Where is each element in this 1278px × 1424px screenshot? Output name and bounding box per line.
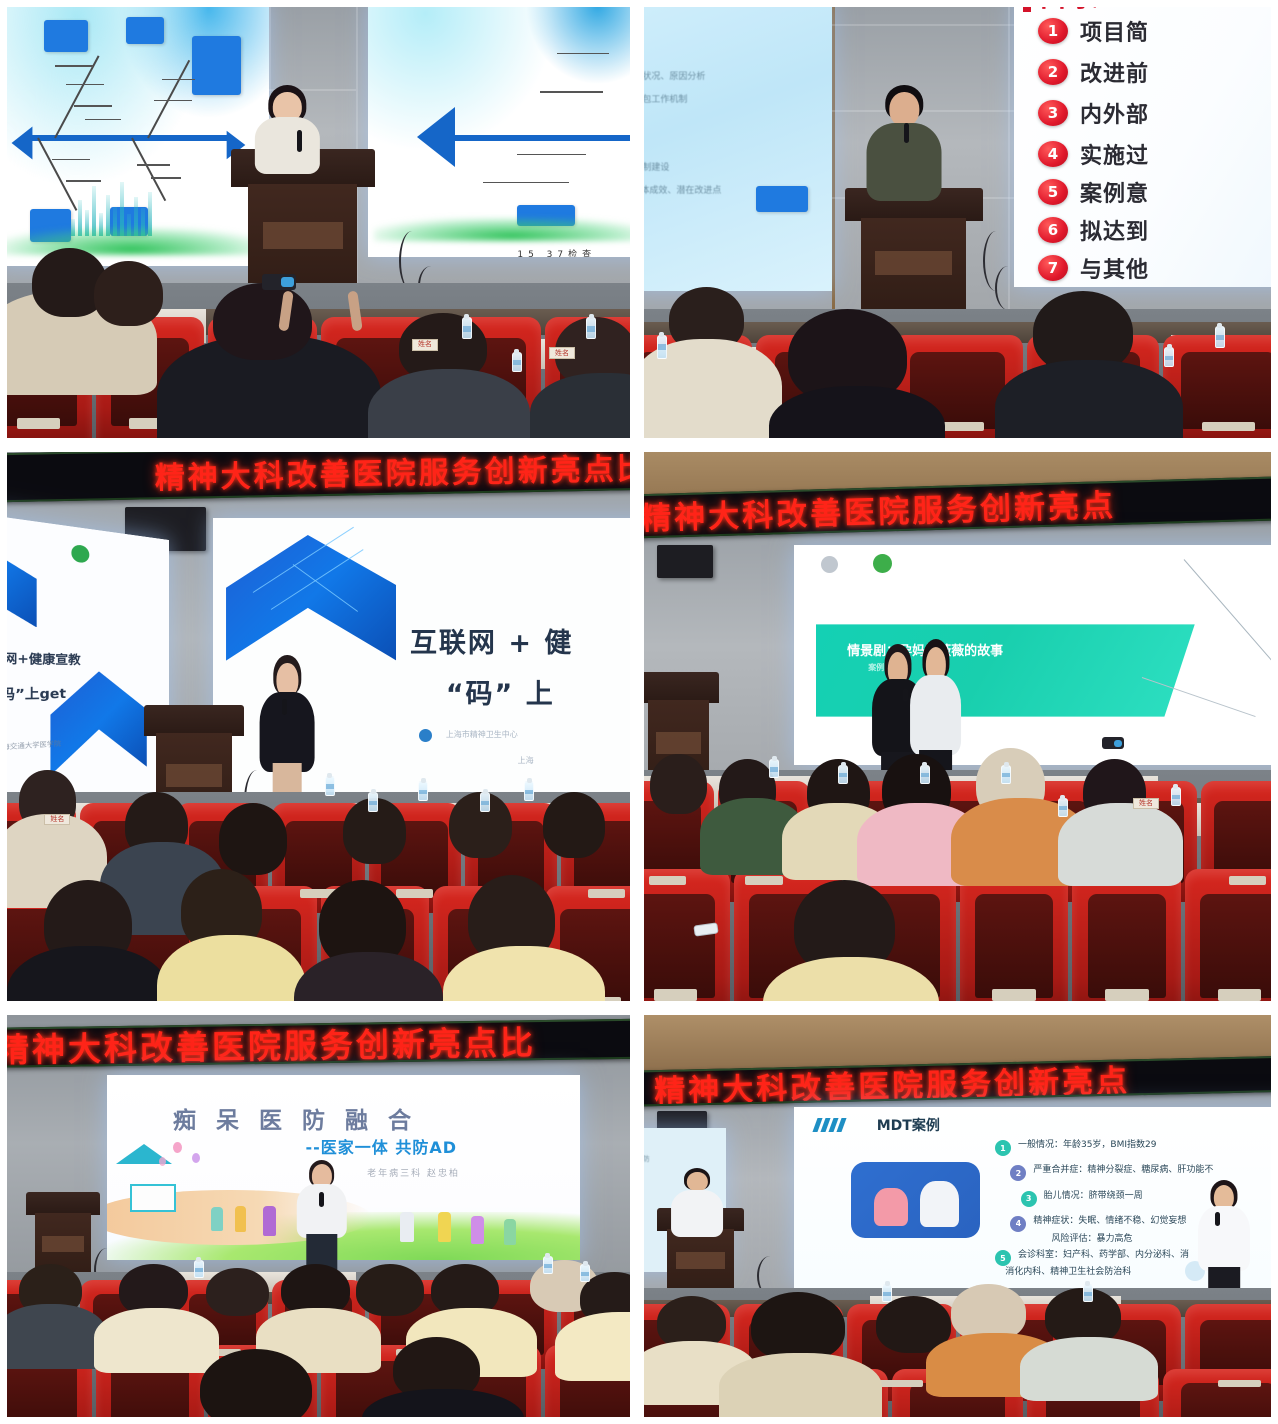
camera xyxy=(262,274,296,290)
photo-top-right[interactable]: 评价 前调研状况、原因分析 服务外包工作机制 渠道 激励 配套机制建设 案例整体… xyxy=(637,0,1278,445)
name-card: 姓名 xyxy=(412,339,438,351)
toc-number: 2 xyxy=(1038,59,1068,85)
microphone xyxy=(1215,1212,1220,1226)
water-bottle xyxy=(1215,326,1225,348)
slide-title: 互联网 + 健 xyxy=(410,621,573,660)
attendee-head xyxy=(206,1268,268,1316)
scene-middle-left: 精神大科改善医院服务创新亮点比 互联网+健康宣教 “码”上get 上海交通大学医… xyxy=(7,452,630,1001)
illustration xyxy=(851,1162,980,1238)
mdt-label: 严重合并症：精神分裂症、糖尿病、肝功能不 xyxy=(1033,1165,1213,1176)
mdt-stripe-icon xyxy=(812,1118,846,1132)
photo-middle-left[interactable]: 精神大科改善医院服务创新亮点比 互联网+健康宣教 “码”上get 上海交通大学医… xyxy=(0,445,637,1008)
presenter-figure xyxy=(250,85,325,171)
photo-bottom-right[interactable]: 精神大科改善医院服务创新亮点 对治 症 情 预防 每Ⅰ 合诊 评 诊 院 程 防… xyxy=(637,1008,1278,1424)
slide-subtitle: “码” 上 xyxy=(446,672,555,711)
slide-text-list: 评价 前调研状况、原因分析 服务外包工作机制 渠道 激励 配套机制建设 案例整体… xyxy=(644,7,832,291)
water-bottle xyxy=(657,335,667,359)
mdt-label: 精神症状：失眠、情绪不稳、幻觉妄想 xyxy=(1033,1216,1186,1227)
slide-subtitle: “码”上get xyxy=(7,683,66,704)
scene-bottom-right: 精神大科改善医院服务创新亮点 对治 症 情 预防 每Ⅰ 合诊 评 诊 院 程 防… xyxy=(644,1015,1271,1417)
water-bottle xyxy=(194,1260,204,1278)
toc-number: 5 xyxy=(1038,179,1068,205)
mdt-number: 4 xyxy=(1010,1216,1026,1232)
chair xyxy=(644,869,730,1001)
water-bottle xyxy=(418,781,428,801)
water-bottle xyxy=(1001,765,1011,784)
toc-number: 3 xyxy=(1038,100,1068,126)
water-bottle xyxy=(882,1284,892,1302)
slide-heading: MDT案例 xyxy=(877,1115,940,1135)
attendee-shoulders xyxy=(1058,803,1183,885)
attendee-head xyxy=(213,283,313,361)
slide-fishbone-left xyxy=(7,7,269,266)
water-bottle xyxy=(543,1256,553,1274)
water-bottle xyxy=(512,352,522,372)
mdt-item: 4 精神症状：失眠、情绪不稳、幻觉妄想 xyxy=(1010,1216,1186,1232)
chair xyxy=(960,869,1069,1001)
mdt-label: 一般情况：年龄35岁，BMI指数29 xyxy=(1018,1140,1157,1151)
slide-author: 老年病三科 赵忠柏 xyxy=(367,1166,460,1179)
toc-label: 项目简 xyxy=(1080,15,1149,47)
audience-row-2 xyxy=(644,869,1271,1001)
water-bottle xyxy=(524,781,534,801)
projection-screen-right: 目录 1 项目简 2 改进前 3 内外部 4 实施过 xyxy=(1014,7,1271,287)
water-bottle xyxy=(368,792,378,812)
mdt-item: 1 一般情况：年龄35岁，BMI指数29 xyxy=(995,1140,1157,1156)
attendee-head xyxy=(751,1292,845,1360)
mdt-label: 会诊科室：妇产科、药学部、内分泌科、消 xyxy=(1018,1250,1189,1261)
photo-top-left[interactable]: 15 37检查 姓名 xyxy=(0,0,637,445)
attendee-head xyxy=(94,261,163,326)
water-bottle xyxy=(1083,1284,1093,1302)
water-bottle xyxy=(920,765,930,784)
presenter-figure xyxy=(294,1160,350,1273)
scene-bottom-left: 精神大科改善医院服务创新亮点比 痴 呆 医 防 融 合 --医家一体 共防AD … xyxy=(7,1015,630,1417)
mdt-item: 3 胎儿情况：脐带绕颈一周 xyxy=(1021,1191,1143,1207)
projection-screen-right: 15 37检查 xyxy=(368,7,630,257)
projection-screen-left: 评价 前调研状况、原因分析 服务外包工作机制 渠道 激励 配套机制建设 案例整体… xyxy=(644,7,832,291)
water-bottle xyxy=(1171,787,1181,806)
name-card: 姓名 xyxy=(1133,798,1159,809)
mdt-label: 胎儿情况：脐带绕颈一周 xyxy=(1044,1191,1143,1202)
toc-item: 6 拟达到 xyxy=(1038,214,1149,246)
attendee-shoulders xyxy=(94,1308,219,1372)
toc-label: 与其他 xyxy=(1080,252,1149,284)
mdt-label: 消化内科、精神卫生社会防治科 xyxy=(1005,1267,1131,1278)
toc-number: 1 xyxy=(1038,18,1068,44)
mdt-number: 1 xyxy=(995,1140,1011,1156)
mdt-number: 3 xyxy=(1021,1191,1037,1207)
scene-top-right: 评价 前调研状况、原因分析 服务外包工作机制 渠道 激励 配套机制建设 案例整体… xyxy=(644,7,1271,438)
toc-number: 7 xyxy=(1038,255,1068,281)
water-bottle xyxy=(325,776,335,796)
toc-item: 4 实施过 xyxy=(1038,138,1149,170)
water-bottle xyxy=(1164,347,1174,367)
toc-label: 拟达到 xyxy=(1080,214,1149,246)
scene-middle-right: 精神大科改善医院服务创新亮点 情景剧：孕妈妈薇薇的故事 案例改编 xyxy=(644,452,1271,1001)
attendee-head xyxy=(650,754,706,814)
mdt-number: 2 xyxy=(1010,1165,1026,1181)
microphone xyxy=(903,688,908,702)
toc-item: 5 案例意 xyxy=(1038,176,1149,208)
name-card: 姓名 xyxy=(549,347,575,359)
slide-footer-text: 15 37检查 xyxy=(517,247,596,257)
water-bottle xyxy=(462,317,472,339)
microphone xyxy=(319,1192,324,1207)
attendee-shoulders xyxy=(995,360,1183,438)
projection-screen-main: 情景剧：孕妈妈薇薇的故事 案例改编 xyxy=(794,545,1271,765)
photo-middle-right[interactable]: 精神大科改善医院服务创新亮点 情景剧：孕妈妈薇薇的故事 案例改编 xyxy=(637,445,1278,1008)
photo-bottom-left[interactable]: 精神大科改善医院服务创新亮点比 痴 呆 医 防 融 合 --医家一体 共防AD … xyxy=(0,1008,637,1424)
chair xyxy=(1072,869,1181,1001)
slide-title: 痴 呆 医 防 融 合 xyxy=(173,1101,417,1135)
water-bottle xyxy=(580,1264,590,1282)
water-bottle xyxy=(586,317,596,339)
mdt-item: 5 会诊科室：妇产科、药学部、内分泌科、消 xyxy=(995,1250,1189,1266)
speaker-box xyxy=(657,545,713,578)
led-banner-text: 精神大科改善医院服务创新亮点比 xyxy=(154,452,630,496)
slide-fishbone-right: 15 37检查 xyxy=(368,7,630,257)
toc-item: 1 项目简 xyxy=(1038,15,1149,47)
toc-item: 2 改进前 xyxy=(1038,56,1149,88)
toc-item: 3 内外部 xyxy=(1038,97,1149,129)
projection-screen-left xyxy=(7,7,269,266)
slide-title: 目录 xyxy=(1038,7,1098,15)
attendee-head xyxy=(356,1264,425,1316)
water-bottle xyxy=(769,759,779,778)
camera xyxy=(1102,737,1124,749)
water-bottle xyxy=(480,792,490,812)
chair xyxy=(1185,869,1271,1001)
mdt-number: 5 xyxy=(995,1250,1011,1266)
toc-label: 内外部 xyxy=(1080,97,1149,129)
water-bottle xyxy=(838,765,848,784)
toc-label: 实施过 xyxy=(1080,138,1149,170)
microphone xyxy=(282,699,287,715)
chair xyxy=(1163,1369,1271,1417)
attendee-shoulders xyxy=(1020,1337,1158,1401)
presenter-figure-1 xyxy=(669,1168,725,1236)
toc-item: 7 与其他 xyxy=(1038,252,1149,284)
name-card: 姓名 xyxy=(44,814,70,825)
water-bottle xyxy=(1058,798,1068,817)
slide-skit: 情景剧：孕妈妈薇薇的故事 案例改编 xyxy=(794,545,1271,765)
attendee-head xyxy=(219,803,288,874)
toc-number: 4 xyxy=(1038,141,1068,167)
toc-label: 改进前 xyxy=(1080,56,1149,88)
mdt-item: 2 严重合并症：精神分裂症、糖尿病、肝功能不 xyxy=(1010,1165,1213,1181)
presenter-figure-2 xyxy=(1196,1180,1252,1301)
photo-collage: 15 37检查 姓名 xyxy=(0,0,1278,1424)
led-banner-text: 精神大科改善医院服务创新亮点比 xyxy=(7,1018,536,1068)
microphone xyxy=(904,123,909,143)
microphone xyxy=(297,130,302,152)
toc-label: 案例意 xyxy=(1080,176,1149,208)
slide-title: 互联网+健康宣教 xyxy=(7,647,81,667)
slide-toc: 目录 1 项目简 2 改进前 3 内外部 4 实施过 xyxy=(1014,7,1271,287)
attendee-head xyxy=(543,792,605,858)
attendee-shoulders xyxy=(7,1304,107,1368)
attendee-shoulders xyxy=(719,1353,882,1417)
mdt-label: 风险评估：暴力高危 xyxy=(1052,1234,1133,1245)
toc-number: 6 xyxy=(1038,217,1068,243)
scene-top-left: 15 37检查 姓名 xyxy=(7,7,630,438)
slide-subtitle: --医家一体 共防AD xyxy=(306,1134,458,1158)
